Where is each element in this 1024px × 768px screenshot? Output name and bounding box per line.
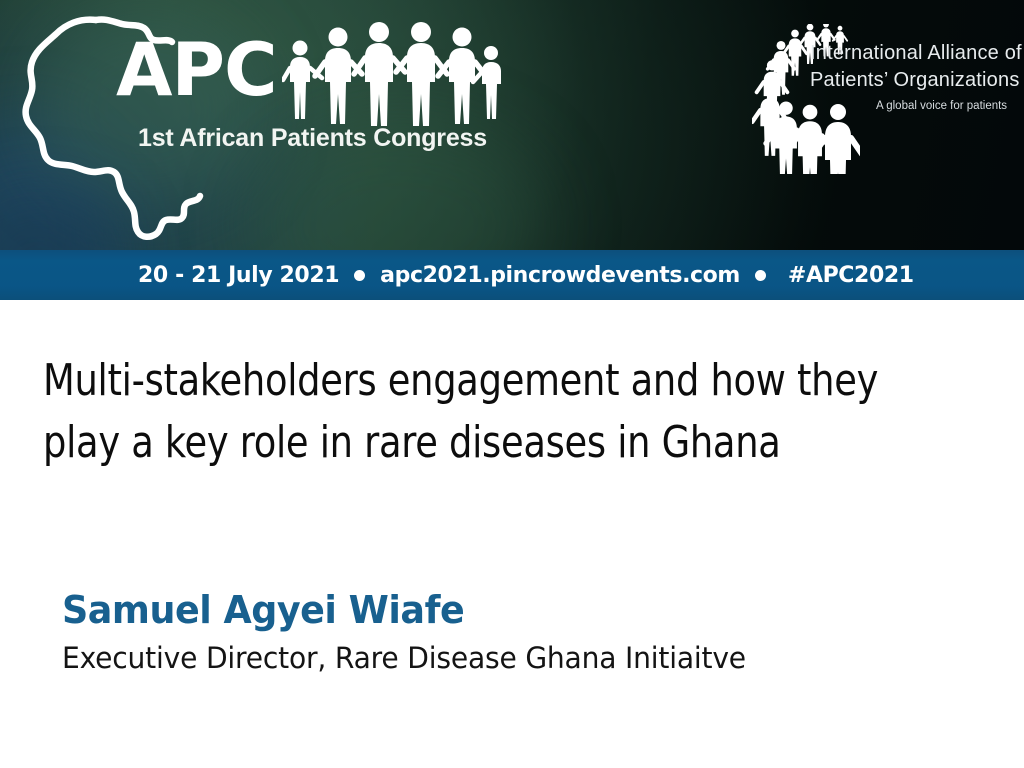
apc-congress-logo: APC [10, 6, 510, 246]
bullet-dot-icon [755, 270, 766, 281]
bullet-dot-icon [354, 270, 365, 281]
iapo-tagline: A global voice for patients [876, 100, 1007, 112]
header-banner: APC [0, 0, 1024, 250]
event-info-strip: 20 - 21 July 2021 apc2021.pincrowdevents… [0, 250, 1024, 300]
apc-logo-subtitle: 1st African Patients Congress [138, 124, 487, 153]
people-holding-hands-icon [282, 20, 504, 128]
event-info-strip-content: 20 - 21 July 2021 apc2021.pincrowdevents… [138, 263, 914, 288]
presenter-name: Samuel Agyei Wiafe [62, 588, 464, 632]
presenter-role: Executive Director, Rare Disease Ghana I… [62, 641, 746, 675]
slide-content-area: Multi-stakeholders engagement and how th… [0, 300, 1024, 768]
iapo-name-line-2: Patients’ Organizations [810, 69, 1020, 92]
event-hashtag: #APC2021 [788, 263, 914, 288]
iapo-name-line-1: International Alliance of [810, 42, 1022, 65]
page-title: Multi-stakeholders engagement and how th… [43, 350, 927, 475]
iapo-logo: International Alliance of Patients’ Orga… [752, 24, 1014, 174]
event-dates: 20 - 21 July 2021 [138, 263, 339, 288]
event-website[interactable]: apc2021.pincrowdevents.com [380, 263, 740, 288]
apc-wordmark: APC [116, 34, 277, 107]
